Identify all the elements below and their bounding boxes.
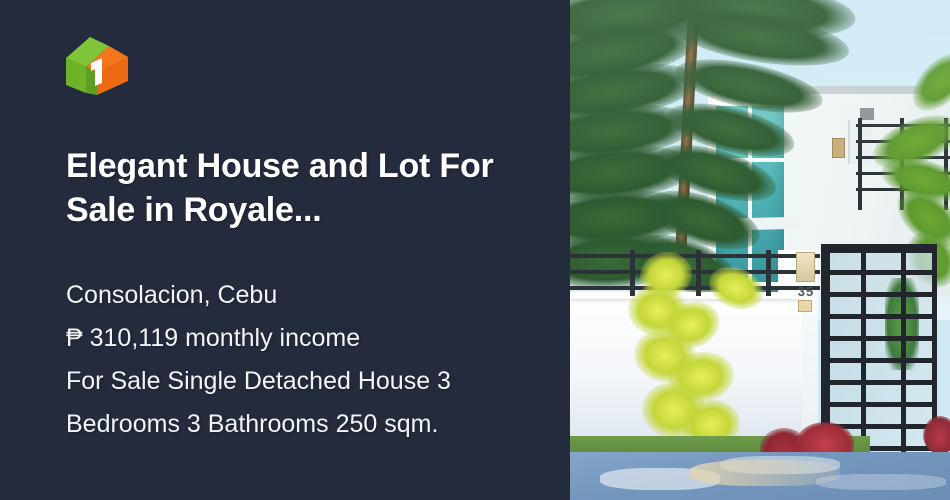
photo-intercom-panel [796,252,815,282]
photo-house-number: 35 [793,284,819,299]
photo-fence [570,250,820,296]
photo-wall-vent [832,138,845,158]
house-logo[interactable] [64,33,130,95]
listing-location: Consolacion, Cebu [66,274,546,317]
listing-card: Elegant House and Lot For Sale in Royale… [0,0,950,500]
listing-description-line-2: Bedrooms 3 Bathrooms 250 sqm. [66,403,546,446]
listing-price: ₱ 310,119 monthly income [66,317,546,360]
property-photo: 35 [570,0,950,500]
listing-info-panel: Elegant House and Lot For Sale in Royale… [0,0,570,500]
photo-doorbell [798,300,812,312]
house-logo-icon [64,33,130,95]
photo-driveway-sand-patch [690,460,840,486]
page-title: Elegant House and Lot For Sale in Royale… [66,144,536,232]
listing-details: Consolacion, Cebu ₱ 310,119 monthly inco… [66,274,546,446]
photo-red-shrub [923,416,950,454]
listing-description-line-1: For Sale Single Detached House 3 [66,360,546,403]
